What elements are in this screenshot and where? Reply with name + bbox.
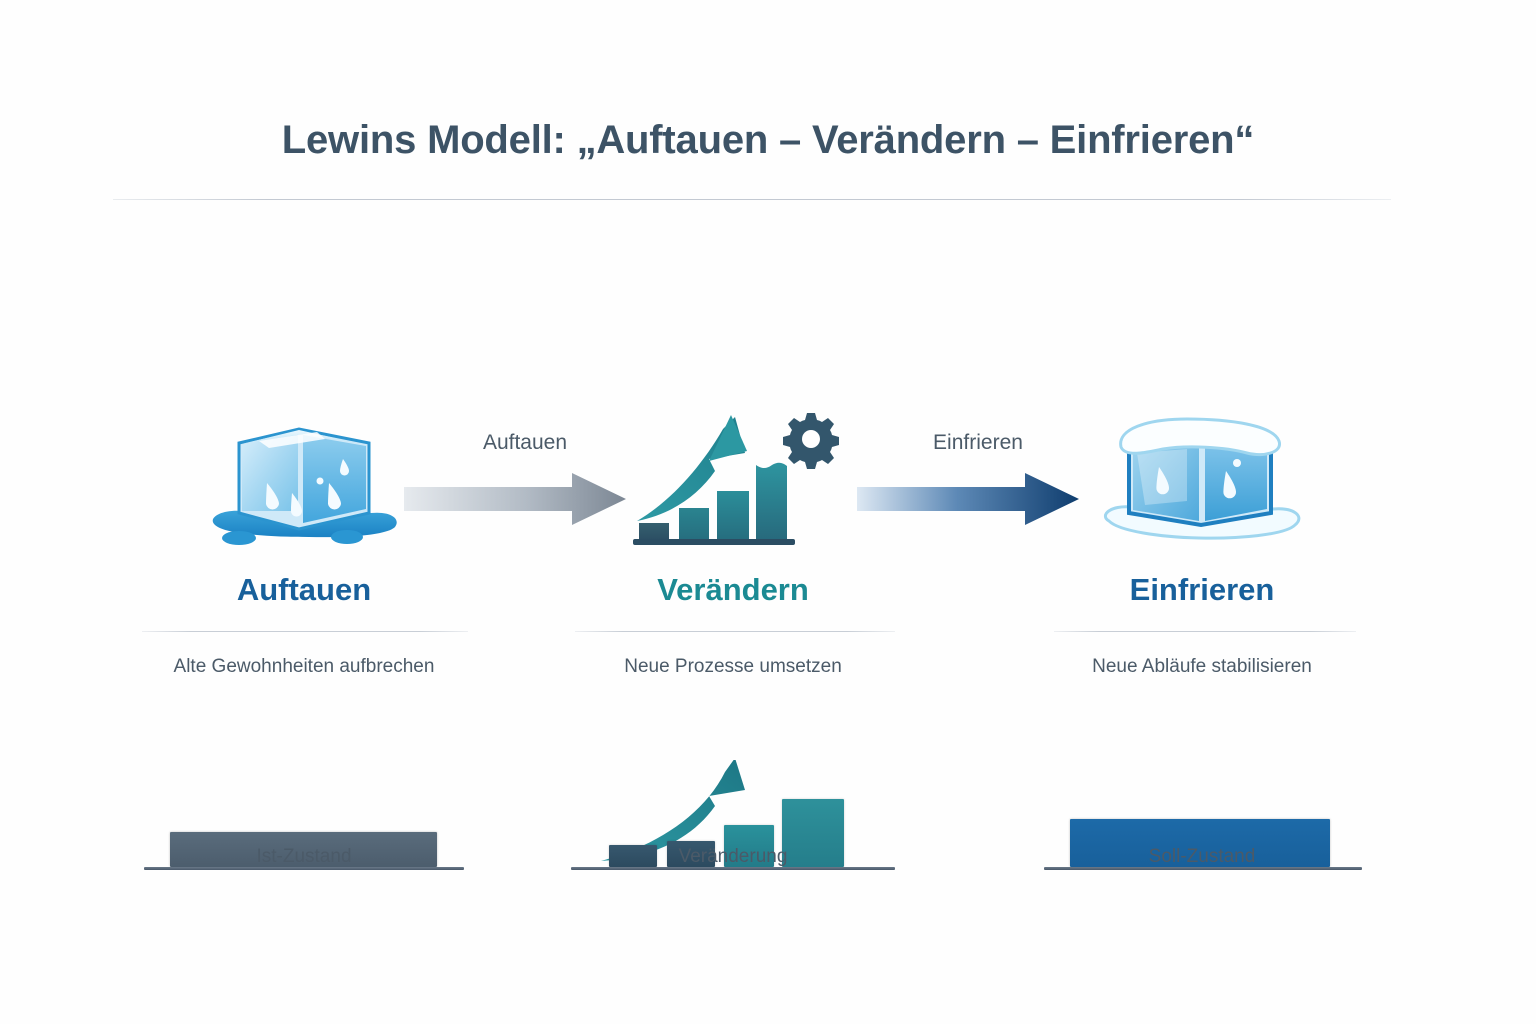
water-drop-right: [331, 530, 363, 544]
stage-title-einfrieren: Einfrieren: [1032, 572, 1372, 608]
transition-arrow-einfrieren: Einfrieren: [853, 425, 1103, 535]
cube-face-right: [303, 435, 366, 523]
arrow-label-auftauen: Auftauen: [400, 431, 650, 455]
mini-chart-veraenderung: Veränderung: [563, 760, 903, 880]
frozen-ice-cube-svg: [1087, 405, 1317, 555]
icon-bar-4: [756, 463, 787, 541]
droplet-4: [317, 478, 324, 485]
page-title: Lewins Modell: „Auftauen – Verändern – E…: [0, 118, 1536, 163]
stage-divider-auftauen: [142, 631, 468, 632]
arrow-blue-svg: [853, 469, 1083, 529]
growth-chart-gear-svg: [623, 405, 843, 555]
arrow-grey-svg: [400, 469, 630, 529]
icon-baseline: [633, 539, 795, 545]
stage-divider-veraendern: [575, 631, 895, 632]
mini-chart-soll-zustand: Soll-Zustand: [1032, 760, 1372, 880]
mini-chart-ist-zustand: Ist-Zustand: [134, 760, 474, 880]
stage-divider-einfrieren: [1054, 631, 1356, 632]
stage-title-veraendern: Verändern: [563, 572, 903, 608]
droplet-3: [1233, 459, 1241, 467]
stage-subtitle-veraendern: Neue Prozesse umsetzen: [561, 656, 905, 678]
icon-bar-3: [717, 491, 749, 541]
stage-title-auftauen: Auftauen: [134, 572, 474, 608]
mini-label-soll-zustand: Soll-Zustand: [1030, 846, 1374, 868]
stage-subtitle-einfrieren: Neue Abläufe stabilisieren: [1030, 656, 1374, 678]
stage-subtitle-auftauen: Alte Gewohnheiten aufbrechen: [132, 656, 476, 678]
transition-arrow-auftauen: Auftauen: [400, 425, 650, 535]
growth-arrow-head: [709, 415, 747, 461]
infographic-canvas: Lewins Modell: „Auftauen – Verändern – E…: [0, 0, 1536, 1024]
title-divider: [113, 199, 1391, 200]
melting-ice-cube-svg: [199, 405, 409, 555]
gear-icon: [783, 413, 839, 469]
cube-face-right: [1205, 445, 1267, 521]
icon-bar-2: [679, 508, 709, 541]
mini-label-veraenderung: Veränderung: [561, 846, 905, 868]
water-drop-left: [222, 531, 256, 545]
mini-label-ist-zustand: Ist-Zustand: [132, 846, 476, 868]
arrow-label-einfrieren: Einfrieren: [853, 431, 1103, 455]
